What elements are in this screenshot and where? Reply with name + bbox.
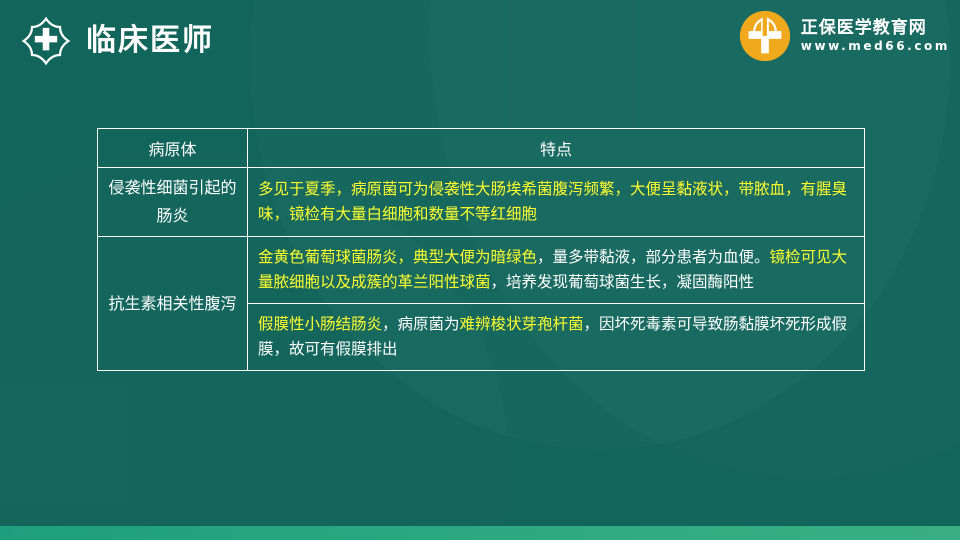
feature-text-segment: 多见于夏季，病原菌可为侵袭性大肠埃希菌腹泻频繁，大便呈黏液状，带脓血，有腥臭味，… [258, 180, 847, 223]
content-table-wrapper: 病原体 特点 侵袭性细菌引起的肠炎多见于夏季，病原菌可为侵袭性大肠埃希菌腹泻频繁… [97, 128, 865, 371]
table-row: 侵袭性细菌引起的肠炎多见于夏季，病原菌可为侵袭性大肠埃希菌腹泻频繁，大便呈黏液状… [98, 168, 865, 237]
feature-text-segment: ，量多带黏液，部分患者为血便。 [537, 248, 770, 266]
column-header-feature: 特点 [248, 129, 865, 168]
bottom-accent-bar [0, 526, 960, 540]
brand-right-text: 正保医学教育网 www.med66.com [801, 19, 950, 53]
table-row: 抗生素相关性腹泻金黄色葡萄球菌肠炎，典型大便为暗绿色，量多带黏液，部分患者为血便… [98, 237, 865, 304]
table-head: 病原体 特点 [98, 129, 865, 168]
med66-cross-badge-icon [737, 8, 793, 64]
cell-feature: 多见于夏季，病原菌可为侵袭性大肠埃希菌腹泻频繁，大便呈黏液状，带脓血，有腥臭味，… [248, 168, 865, 237]
pathogen-label: 抗生素相关性腹泻 [108, 294, 236, 313]
cell-pathogen: 侵袭性细菌引起的肠炎 [98, 168, 248, 237]
feature-text-segment: 金黄色葡萄球菌肠炎，典型大便为暗绿色 [258, 248, 537, 266]
medical-cross-quatrefoil-icon [18, 12, 74, 70]
pathogen-label: 侵袭性细菌引起的肠炎 [108, 178, 236, 225]
brand-right[interactable]: 正保医学教育网 www.med66.com [737, 8, 950, 64]
brand-right-title: 正保医学教育网 [801, 19, 950, 38]
brand-left: 临床医师 [18, 12, 214, 70]
cell-feature: 假膜性小肠结肠炎，病原菌为难辨梭状芽孢杆菌，因坏死毒素可导致肠黏膜坏死形成假膜，… [248, 304, 865, 371]
feature-text-segment: 假膜性小肠结肠炎 [258, 315, 382, 333]
column-header-pathogen: 病原体 [98, 129, 248, 168]
cell-pathogen: 抗生素相关性腹泻 [98, 237, 248, 371]
brand-right-url: www.med66.com [801, 40, 950, 53]
feature-text-segment: 难辨梭状芽孢杆菌 [460, 315, 584, 333]
brand-left-title: 临床医师 [86, 26, 214, 56]
table-body: 侵袭性细菌引起的肠炎多见于夏季，病原菌可为侵袭性大肠埃希菌腹泻频繁，大便呈黏液状… [98, 168, 865, 371]
table-header-row: 病原体 特点 [98, 129, 865, 168]
feature-text-segment: ，培养发现葡萄球菌生长，凝固酶阳性 [491, 273, 755, 291]
cell-feature: 金黄色葡萄球菌肠炎，典型大便为暗绿色，量多带黏液，部分患者为血便。镜检可见大量脓… [248, 237, 865, 304]
page-header: 临床医师 正保医学教育网 www.med66.com [0, 0, 960, 88]
feature-text-segment: ，病原菌为 [382, 315, 460, 333]
pathogen-feature-table: 病原体 特点 侵袭性细菌引起的肠炎多见于夏季，病原菌可为侵袭性大肠埃希菌腹泻频繁… [97, 128, 865, 371]
